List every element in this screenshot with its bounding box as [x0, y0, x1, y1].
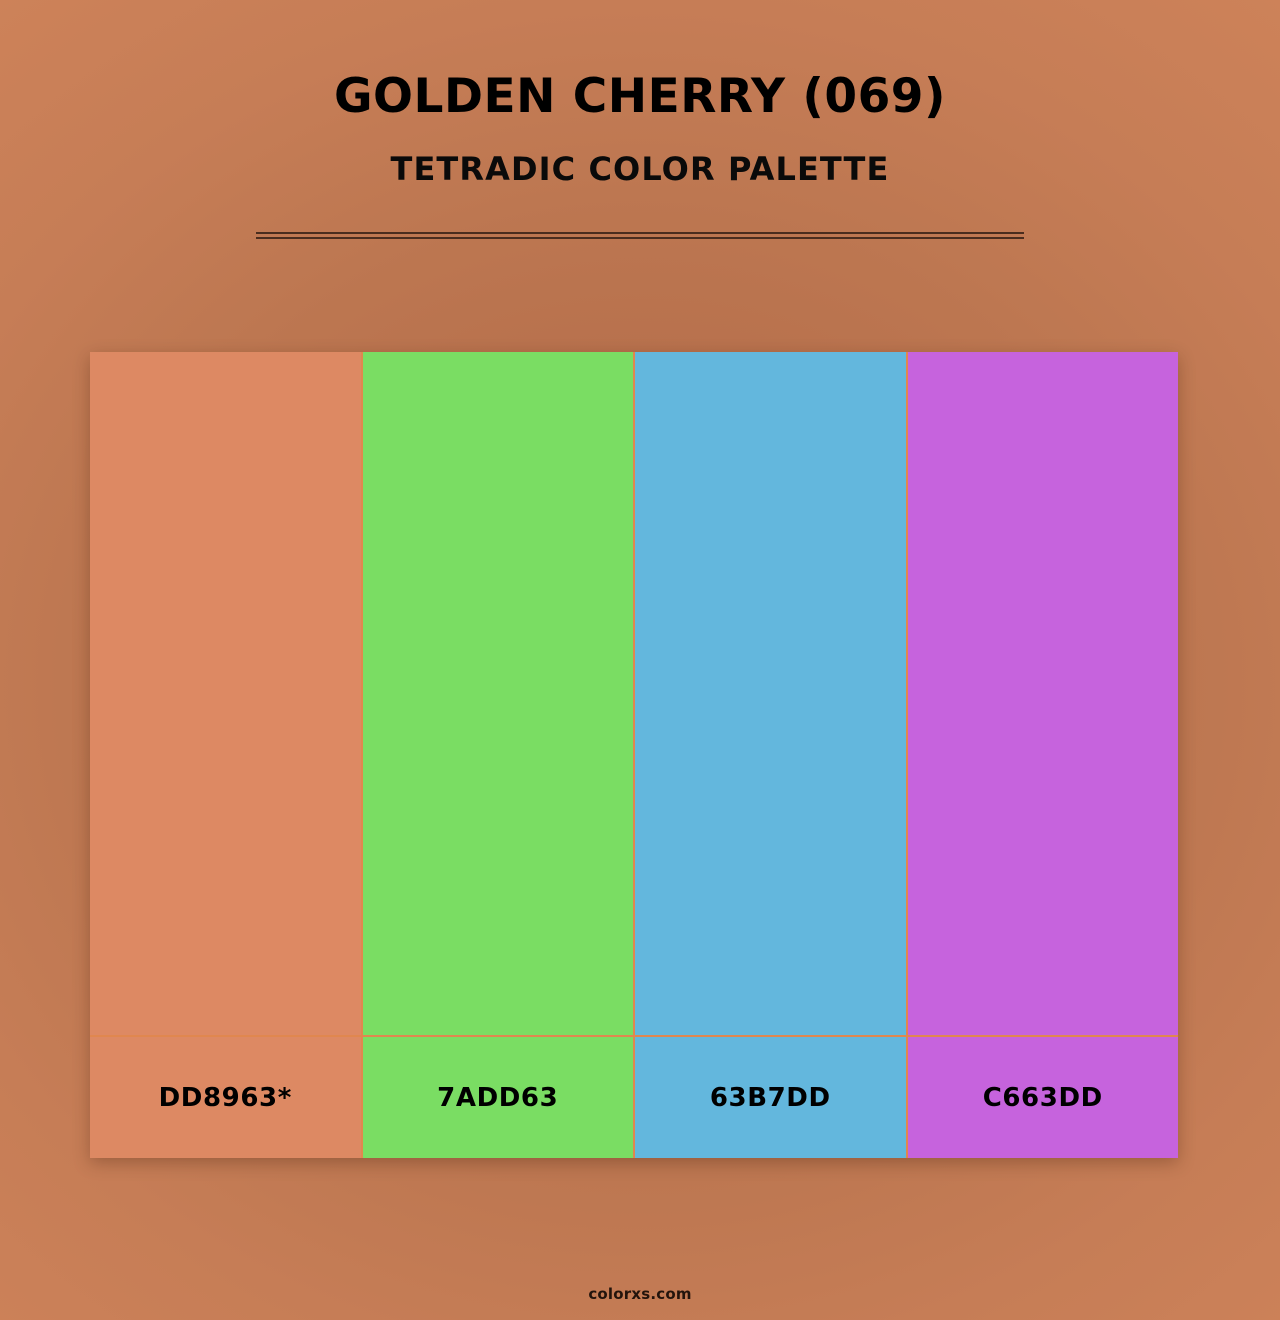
page-title: GOLDEN CHERRY (069) — [0, 0, 1280, 121]
swatch-color-block-1[interactable] — [90, 352, 361, 1035]
swatch-hex-label-3: 63B7DD — [710, 1083, 831, 1113]
swatch-column-4[interactable]: C663DD — [906, 352, 1179, 1158]
page-header: GOLDEN CHERRY (069) TETRADIC COLOR PALET… — [0, 0, 1280, 187]
palette-swatch-panel: DD8963* 7ADD63 63B7DD C663DD — [90, 352, 1178, 1158]
swatch-label-cell-1[interactable]: DD8963* — [90, 1035, 361, 1158]
site-credit[interactable]: colorxs.com — [588, 1285, 691, 1303]
swatch-label-cell-4[interactable]: C663DD — [908, 1035, 1179, 1158]
page-subtitle: TETRADIC COLOR PALETTE — [0, 121, 1280, 187]
divider-line-bottom — [256, 237, 1024, 239]
swatch-label-cell-3[interactable]: 63B7DD — [635, 1035, 906, 1158]
swatch-column-3[interactable]: 63B7DD — [633, 352, 906, 1158]
swatch-hex-label-1: DD8963* — [159, 1083, 292, 1113]
swatch-color-block-4[interactable] — [908, 352, 1179, 1035]
swatch-hex-label-4: C663DD — [983, 1083, 1103, 1113]
page-footer: colorxs.com — [0, 1284, 1280, 1303]
swatch-label-cell-2[interactable]: 7ADD63 — [363, 1035, 634, 1158]
swatch-hex-label-2: 7ADD63 — [437, 1083, 558, 1113]
swatch-color-block-3[interactable] — [635, 352, 906, 1035]
swatch-column-2[interactable]: 7ADD63 — [361, 352, 634, 1158]
header-divider — [256, 232, 1024, 239]
swatch-column-1[interactable]: DD8963* — [90, 352, 361, 1158]
swatch-color-block-2[interactable] — [363, 352, 634, 1035]
divider-line-top — [256, 232, 1024, 234]
color-palette-page: GOLDEN CHERRY (069) TETRADIC COLOR PALET… — [0, 0, 1280, 1320]
